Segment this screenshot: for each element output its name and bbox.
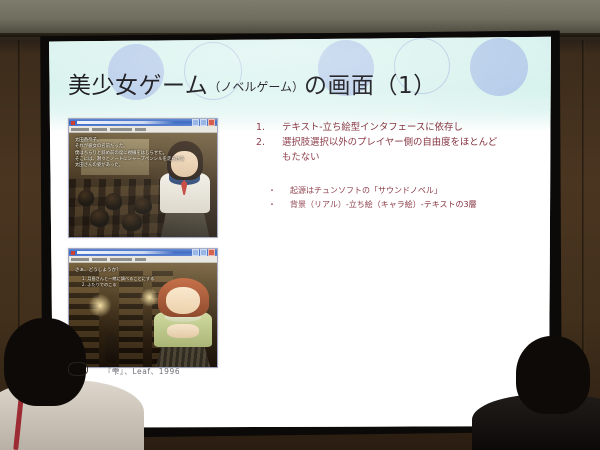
window-title-text	[77, 121, 192, 124]
slide-title: 美少女ゲーム（ノベルゲーム）の画面（1）	[68, 66, 437, 100]
game-canvas: 太田香奈子。 それが彼女の名前だった。 僕はちらりと斜め前の席に視線をはしらせた…	[69, 133, 217, 237]
list-text: テキスト‐立ち絵型インタフェースに依存し	[282, 120, 501, 135]
menu-item-settings[interactable]	[92, 128, 107, 131]
bullet-marker: ・	[268, 184, 290, 198]
list-text: 選択肢選択以外のプレイヤー側の自由度をほとんどもたない	[282, 135, 501, 165]
game-choice-list: 1. 月島さんと一緒に調べることにする 2. ふたりでのこる	[82, 276, 193, 288]
window-titlebar	[69, 249, 217, 256]
game-dialogue-text: 太田香奈子。 それが彼女の名前だった。 僕はちらりと斜め前の席に視線をはしらせた…	[75, 138, 202, 169]
game-choice-block: さぁ、どうしようか？ 1. 月島さんと一緒に調べることにする 2. ふたりでのこ…	[75, 268, 193, 288]
numbered-list-item: 1. テキスト‐立ち絵型インタフェースに依存し	[256, 120, 501, 135]
audience-member-left	[0, 318, 134, 450]
game-screenshot-classroom: 太田香奈子。 それが彼女の名前だった。 僕はちらりと斜め前の席に視線をはしらせた…	[68, 118, 218, 238]
slide-title-main: 美少女ゲーム	[68, 73, 208, 99]
maximize-button[interactable]	[200, 119, 207, 126]
student-head	[134, 198, 152, 215]
window-menubar	[69, 256, 217, 263]
sprite-skirt	[161, 210, 210, 237]
slide-title-paren: （ノベルゲーム）	[208, 80, 304, 94]
student-head	[90, 209, 109, 227]
sprite-arms	[167, 324, 198, 338]
sub-bullet-list: ・ 起源はチュンソフトの「サウンドノベル」 ・ 背景（リアル）‐立ち絵（キャラ絵…	[268, 184, 508, 212]
sub-bullet-text: 背景（リアル）‐立ち絵（キャラ絵）‐テキストの3層	[290, 198, 508, 212]
eyeglasses-icon	[68, 362, 88, 376]
minimize-button[interactable]	[192, 249, 199, 256]
audience-member-right	[486, 340, 600, 450]
minimize-button[interactable]	[192, 119, 199, 126]
window-controls	[192, 119, 215, 126]
sub-bullet-item: ・ 起源はチュンソフトの「サウンドノベル」	[268, 184, 508, 198]
menu-item-file[interactable]	[71, 128, 89, 131]
student-head	[122, 213, 141, 231]
game-dialogue-text: さぁ、どうしようか？	[75, 268, 193, 274]
sub-bullet-text: 起源はチュンソフトの「サウンドノベル」	[290, 184, 508, 198]
game-character-sprite	[150, 278, 215, 367]
slide-title-suffix: の画面（1）	[304, 73, 437, 99]
menu-item-help[interactable]	[135, 128, 146, 131]
numbered-list: 1. テキスト‐立ち絵型インタフェースに依存し 2. 選択肢選択以外のプレイヤー…	[256, 120, 501, 165]
sprite-skirt	[156, 344, 211, 367]
close-button[interactable]	[208, 119, 215, 126]
maximize-button[interactable]	[200, 249, 207, 256]
window-title-text	[77, 251, 192, 254]
list-index: 1.	[256, 120, 282, 135]
sprite-face	[166, 287, 200, 314]
game-choice-option[interactable]: 2. ふたりでのこる	[82, 282, 193, 288]
screenshot-root: 美少女ゲーム（ノベルゲーム）の画面（1） 1. テキスト‐立ち絵型インタフェース…	[0, 0, 600, 450]
menu-item-window[interactable]	[110, 258, 132, 261]
numbered-list-item: 2. 選択肢選択以外のプレイヤー側の自由度をほとんどもたない	[256, 135, 501, 165]
student-head	[78, 190, 94, 206]
list-index: 2.	[256, 135, 282, 150]
street-lamp-glow	[88, 294, 112, 317]
student-head	[105, 193, 123, 210]
window-controls	[192, 249, 215, 256]
wall-upper-band	[0, 0, 600, 34]
audience-head	[516, 336, 590, 414]
close-button[interactable]	[208, 249, 215, 256]
window-menubar	[69, 126, 217, 133]
sub-bullet-item: ・ 背景（リアル）‐立ち絵（キャラ絵）‐テキストの3層	[268, 198, 508, 212]
bullet-marker: ・	[268, 198, 290, 212]
menu-item-settings[interactable]	[92, 258, 107, 261]
app-icon	[71, 121, 75, 125]
app-icon	[71, 251, 75, 255]
menu-item-window[interactable]	[110, 128, 132, 131]
menu-item-help[interactable]	[135, 258, 146, 261]
window-titlebar	[69, 119, 217, 126]
menu-item-file[interactable]	[71, 258, 89, 261]
